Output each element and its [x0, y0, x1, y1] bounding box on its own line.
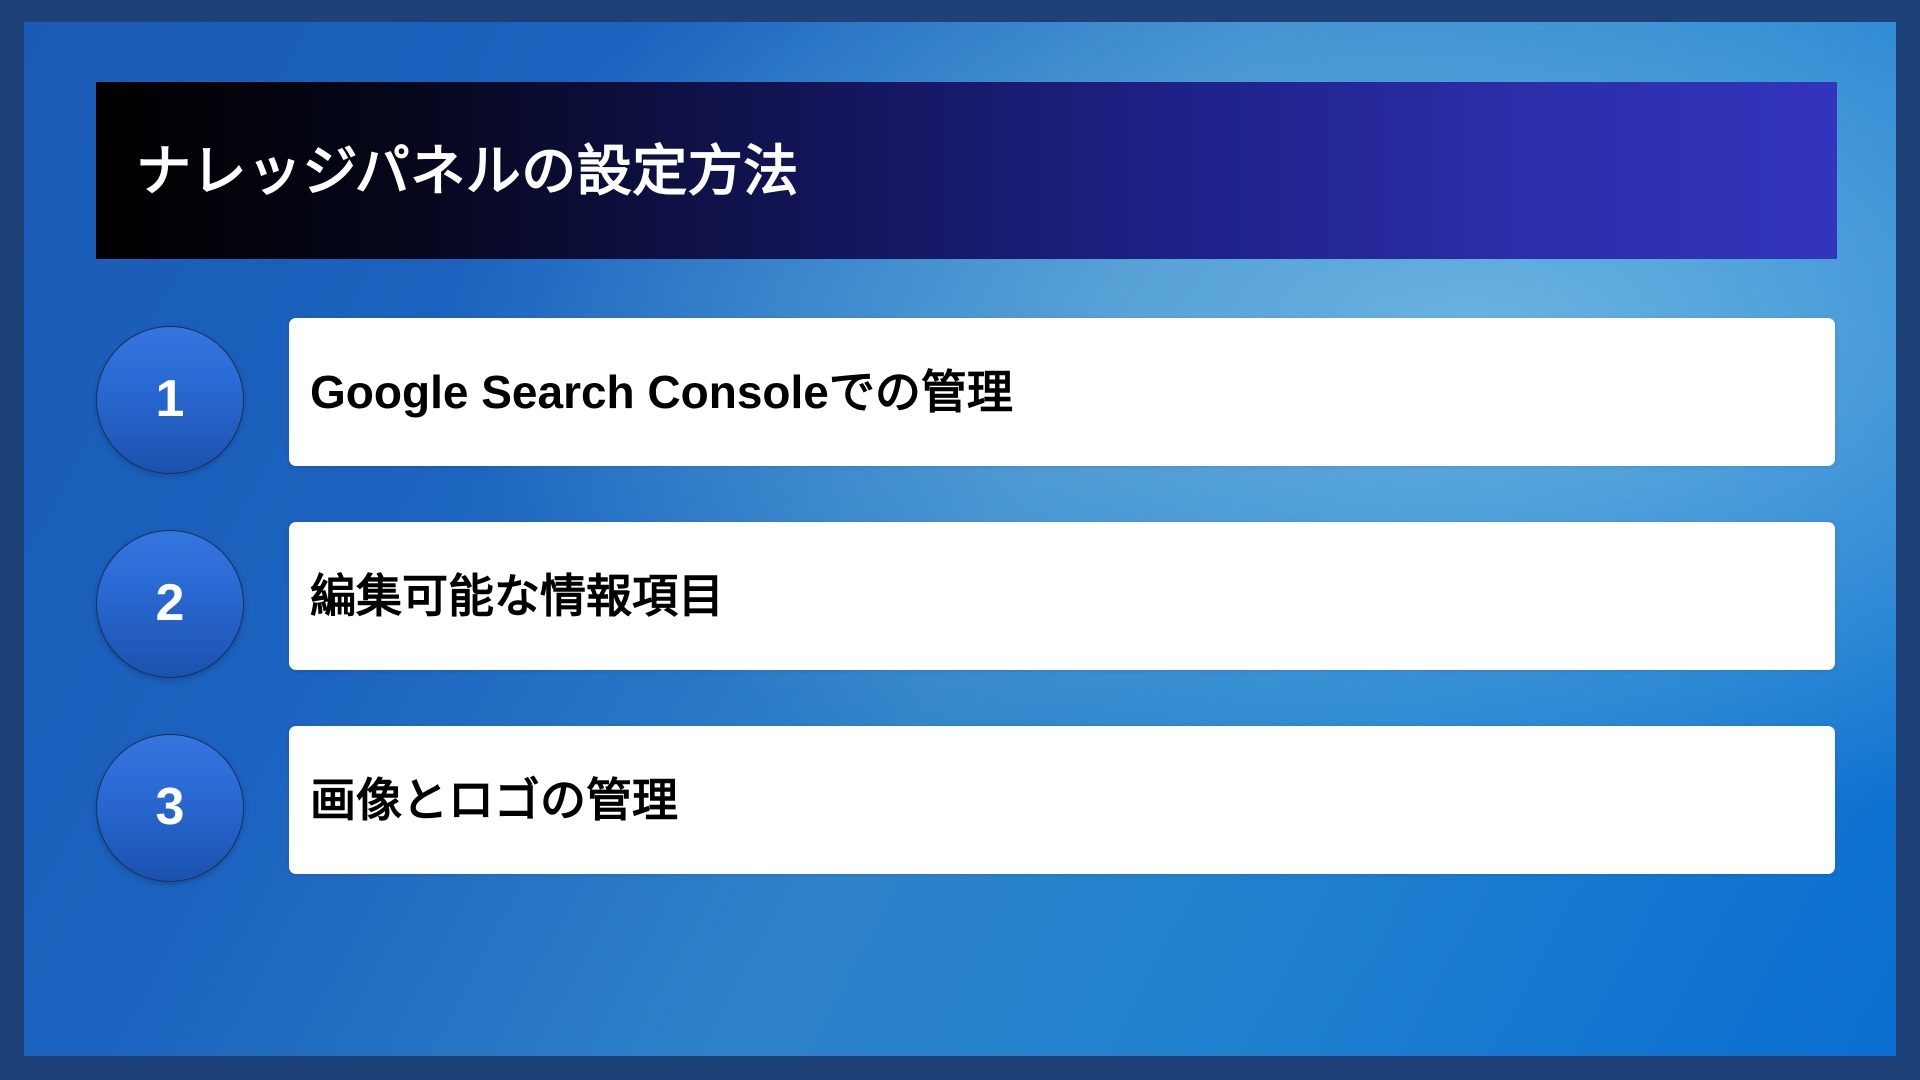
step-card-1[interactable]: Google Search Consoleでの管理	[289, 318, 1835, 466]
step-row: 1 Google Search Consoleでの管理	[24, 318, 1896, 486]
step-number-2: 2	[156, 577, 185, 629]
step-label-3: 画像とロゴの管理	[289, 774, 678, 827]
title-banner: ナレッジパネルの設定方法	[96, 82, 1837, 259]
step-card-3[interactable]: 画像とロゴの管理	[289, 726, 1835, 874]
step-list: 1 Google Search Consoleでの管理 2 編集可能な情報項目 …	[24, 318, 1896, 894]
slide-outer-frame: ナレッジパネルの設定方法 1 Google Search Consoleでの管理…	[0, 0, 1920, 1080]
step-number-3: 3	[156, 781, 185, 833]
step-label-1: Google Search Consoleでの管理	[289, 366, 1013, 419]
step-number-1: 1	[156, 373, 185, 425]
step-row: 2 編集可能な情報項目	[24, 522, 1896, 690]
step-badge-2: 2	[96, 530, 244, 678]
slide-title: ナレッジパネルの設定方法	[136, 140, 799, 201]
step-badge-1: 1	[96, 326, 244, 474]
step-badge-3: 3	[96, 734, 244, 882]
slide-canvas: ナレッジパネルの設定方法 1 Google Search Consoleでの管理…	[24, 22, 1896, 1056]
step-label-2: 編集可能な情報項目	[289, 570, 724, 623]
step-row: 3 画像とロゴの管理	[24, 726, 1896, 894]
step-card-2[interactable]: 編集可能な情報項目	[289, 522, 1835, 670]
